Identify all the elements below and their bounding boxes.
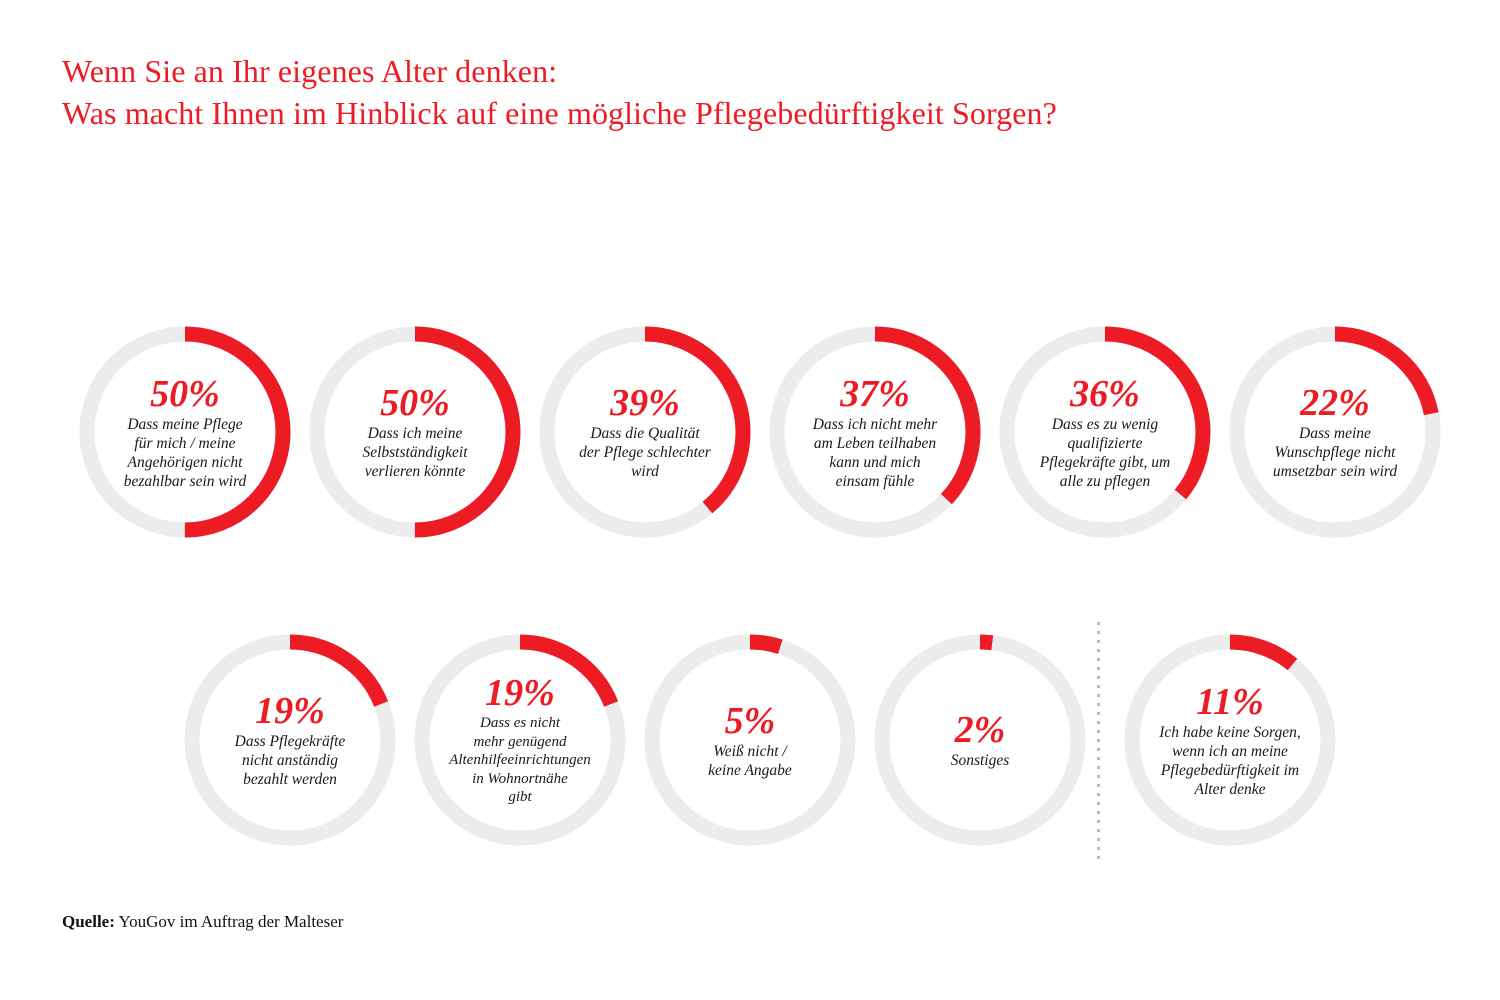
donut-gauge — [177, 627, 403, 853]
donut-gauge — [302, 319, 528, 545]
donut-track — [1132, 642, 1328, 838]
donut-gauge — [637, 627, 863, 853]
donut-track — [652, 642, 848, 838]
source-text: YouGov im Auftrag der Malteser — [115, 912, 344, 931]
donut-fachkraefte: 36%Dass es zu wenigqualifiziertePflegekr… — [992, 319, 1218, 545]
donut-gauge — [1222, 319, 1448, 545]
donut-gauge — [867, 627, 1093, 853]
donut-bezahlung-pflegekraefte: 19%Dass Pflegekräftenicht anständigbezah… — [177, 627, 403, 853]
donut-teilhabe: 37%Dass ich nicht mehram Leben teilhaben… — [762, 319, 988, 545]
donut-bezahlbarkeit: 50%Dass meine Pflegefür mich / meineAnge… — [72, 319, 298, 545]
donut-wunschpflege: 22%Dass meineWunschpflege nichtumsetzbar… — [1222, 319, 1448, 545]
donut-track — [882, 642, 1078, 838]
donut-gauge — [72, 319, 298, 545]
donut-qualitaet: 39%Dass die Qualitätder Pflege schlechte… — [532, 319, 758, 545]
donut-keine-sorgen: 11%Ich habe keine Sorgen,wenn ich an mei… — [1117, 627, 1343, 853]
donut-gauge — [407, 627, 633, 853]
source-label: Quelle: — [62, 912, 115, 931]
donut-gauge — [532, 319, 758, 545]
infographic-page: Wenn Sie an Ihr eigenes Alter denken: Wa… — [0, 0, 1500, 1000]
donut-sonstiges: 2%Sonstiges — [867, 627, 1093, 853]
donut-selbststaendigkeit: 50%Dass ich meineSelbstständigkeitverlie… — [302, 319, 528, 545]
page-title: Wenn Sie an Ihr eigenes Alter denken: Wa… — [62, 50, 1422, 134]
donut-gauge — [762, 319, 988, 545]
title-line-1: Wenn Sie an Ihr eigenes Alter denken: — [62, 50, 1422, 92]
source-note: Quelle: YouGov im Auftrag der Malteser — [62, 912, 343, 932]
donut-weiss-nicht: 5%Weiß nicht /keine Angabe — [637, 627, 863, 853]
section-divider — [1097, 622, 1100, 860]
donut-altenhilfeeinrichtungen: 19%Dass es nichtmehr genügendAltenhilfee… — [407, 627, 633, 853]
donut-gauge — [1117, 627, 1343, 853]
title-line-2: Was macht Ihnen im Hinblick auf eine mög… — [62, 92, 1422, 134]
donut-gauge — [992, 319, 1218, 545]
